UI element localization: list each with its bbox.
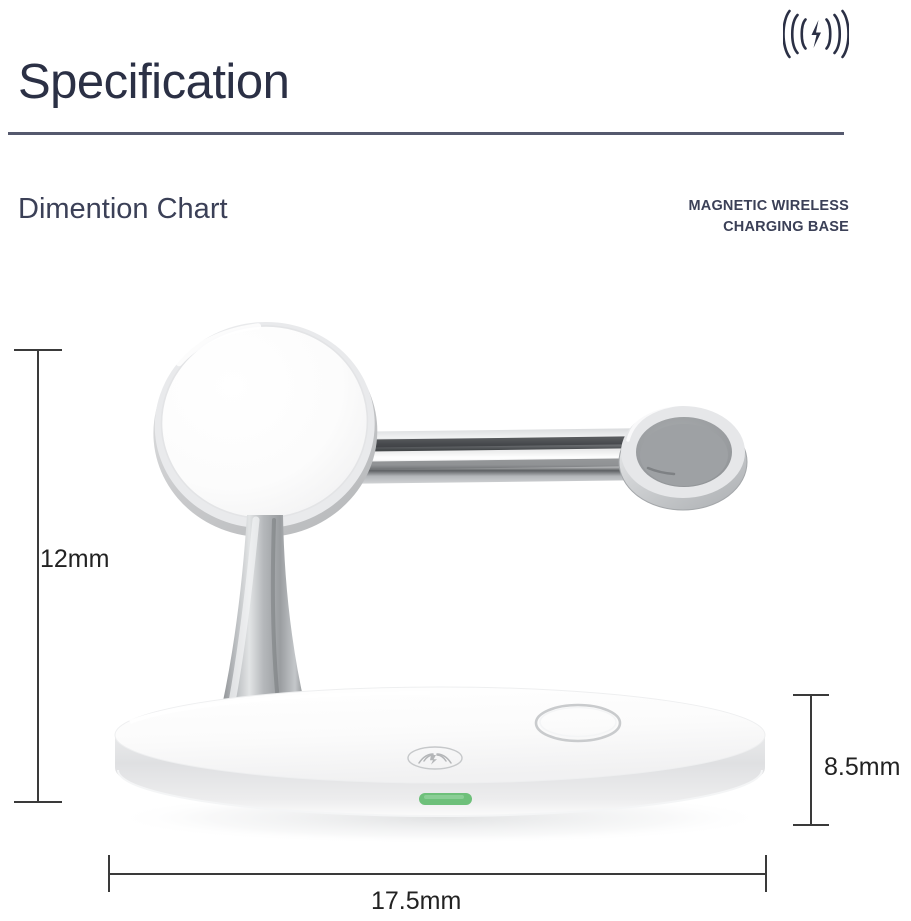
dimension-width-label: 17.5mm (371, 887, 461, 916)
product-label: MAGNETIC WIRELESS CHARGING BASE (519, 196, 849, 237)
product-illustration (0, 0, 911, 921)
dimension-thickness-line (810, 694, 812, 825)
cradle-notch (648, 468, 674, 474)
watch-charger-cradle (619, 404, 747, 510)
support-stem (220, 515, 306, 714)
dimension-thickness-label: 8.5mm (824, 753, 900, 782)
led-indicator (419, 793, 472, 805)
wireless-charging-emblem (408, 747, 462, 769)
dimension-height-label: 12mm (40, 545, 109, 574)
connecting-arm (330, 428, 660, 484)
dimension-width-cap-right (765, 855, 767, 892)
dimension-thickness-cap-bottom (793, 824, 829, 826)
airpods-charging-ring (536, 705, 620, 741)
emblem-bolt-icon (430, 755, 437, 765)
page-title: Specification (18, 58, 289, 107)
base-platform (115, 687, 765, 816)
title-divider (8, 132, 844, 135)
magsafe-charging-disc (144, 313, 386, 547)
product-label-line-2: CHARGING BASE (519, 217, 849, 238)
dimension-height-cap-bottom (14, 801, 62, 803)
page-subtitle: Dimention Chart (18, 193, 228, 226)
led-indicator-highlight (424, 795, 464, 799)
dimension-height-line (37, 349, 39, 802)
lightning-bolt-icon (812, 20, 822, 48)
wireless-charging-icon (783, 8, 849, 60)
base-ground-shadow (110, 792, 770, 844)
product-label-line-1: MAGNETIC WIRELESS (519, 196, 849, 217)
dimension-width-line (108, 873, 766, 875)
